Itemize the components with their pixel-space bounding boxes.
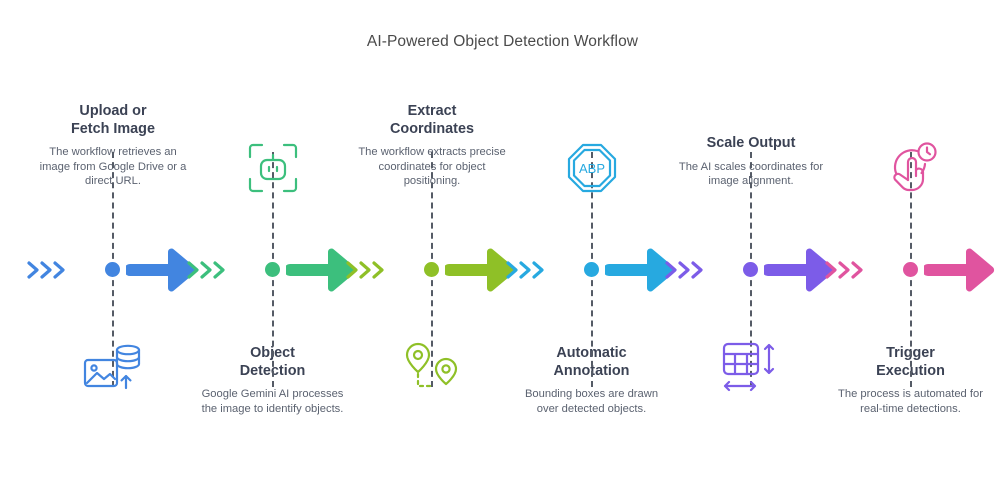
step-chevrons [26,259,70,286]
resize-grid-icon [663,340,839,396]
chevron-right-icon [26,259,70,281]
chevron-right-icon [824,259,868,281]
step-node-dot[interactable] [743,262,758,277]
chevron-right-icon [505,259,549,281]
workflow-step-6[interactable]: Trigger ExecutionThe process is automate… [823,0,999,479]
step-chevrons [186,259,230,286]
step-flow-arrow [924,246,996,299]
svg-text:ABP: ABP [578,161,604,176]
workflow-step-2[interactable]: Object DetectionGoogle Gemini AI process… [185,0,361,479]
workflow-step-3[interactable]: Extract CoordinatesThe workflow extracts… [344,0,520,479]
chevron-right-icon [186,259,230,281]
workflow-step-1[interactable]: Upload or Fetch ImageThe workflow retrie… [25,0,201,479]
step-arrow-row [185,243,361,297]
step-description: The process is automated for real-time d… [823,387,999,416]
step-chevrons [505,259,549,286]
tap-clock-icon [823,140,999,196]
abp-octagon-icon: ABP [504,140,680,196]
step-description: Bounding boxes are drawn over detected o… [504,387,680,416]
step-arrow-row [344,243,520,297]
step-node-dot[interactable] [105,262,120,277]
step-title: Extract Coordinates [344,103,520,138]
step-node-dot[interactable] [424,262,439,277]
chevron-right-icon [664,259,708,281]
flow-arrow-icon [924,246,996,294]
map-pins-path-icon [344,340,520,396]
workflow-diagram: AI-Powered Object Detection Workflow Upl… [0,0,1005,479]
step-chevrons [345,259,389,286]
step-chevrons [824,259,868,286]
step-arrow-row [823,243,999,297]
step-node-dot[interactable] [584,262,599,277]
step-title: Scale Output [663,135,839,153]
step-description: Google Gemini AI processes the image to … [185,387,361,416]
chevron-right-icon [345,259,389,281]
step-arrow-row [25,243,201,297]
workflow-step-4[interactable]: Automatic AnnotationBounding boxes are d… [504,0,680,479]
step-arrow-row [504,243,680,297]
scan-robot-icon [185,140,361,196]
step-node-dot[interactable] [903,262,918,277]
step-chevrons [664,259,708,286]
step-title: Upload or Fetch Image [25,103,201,138]
step-arrow-row [663,243,839,297]
workflow-step-5[interactable]: Scale OutputThe AI scales coordinates fo… [663,0,839,479]
step-node-dot[interactable] [265,262,280,277]
image-database-upload-icon [25,340,201,396]
